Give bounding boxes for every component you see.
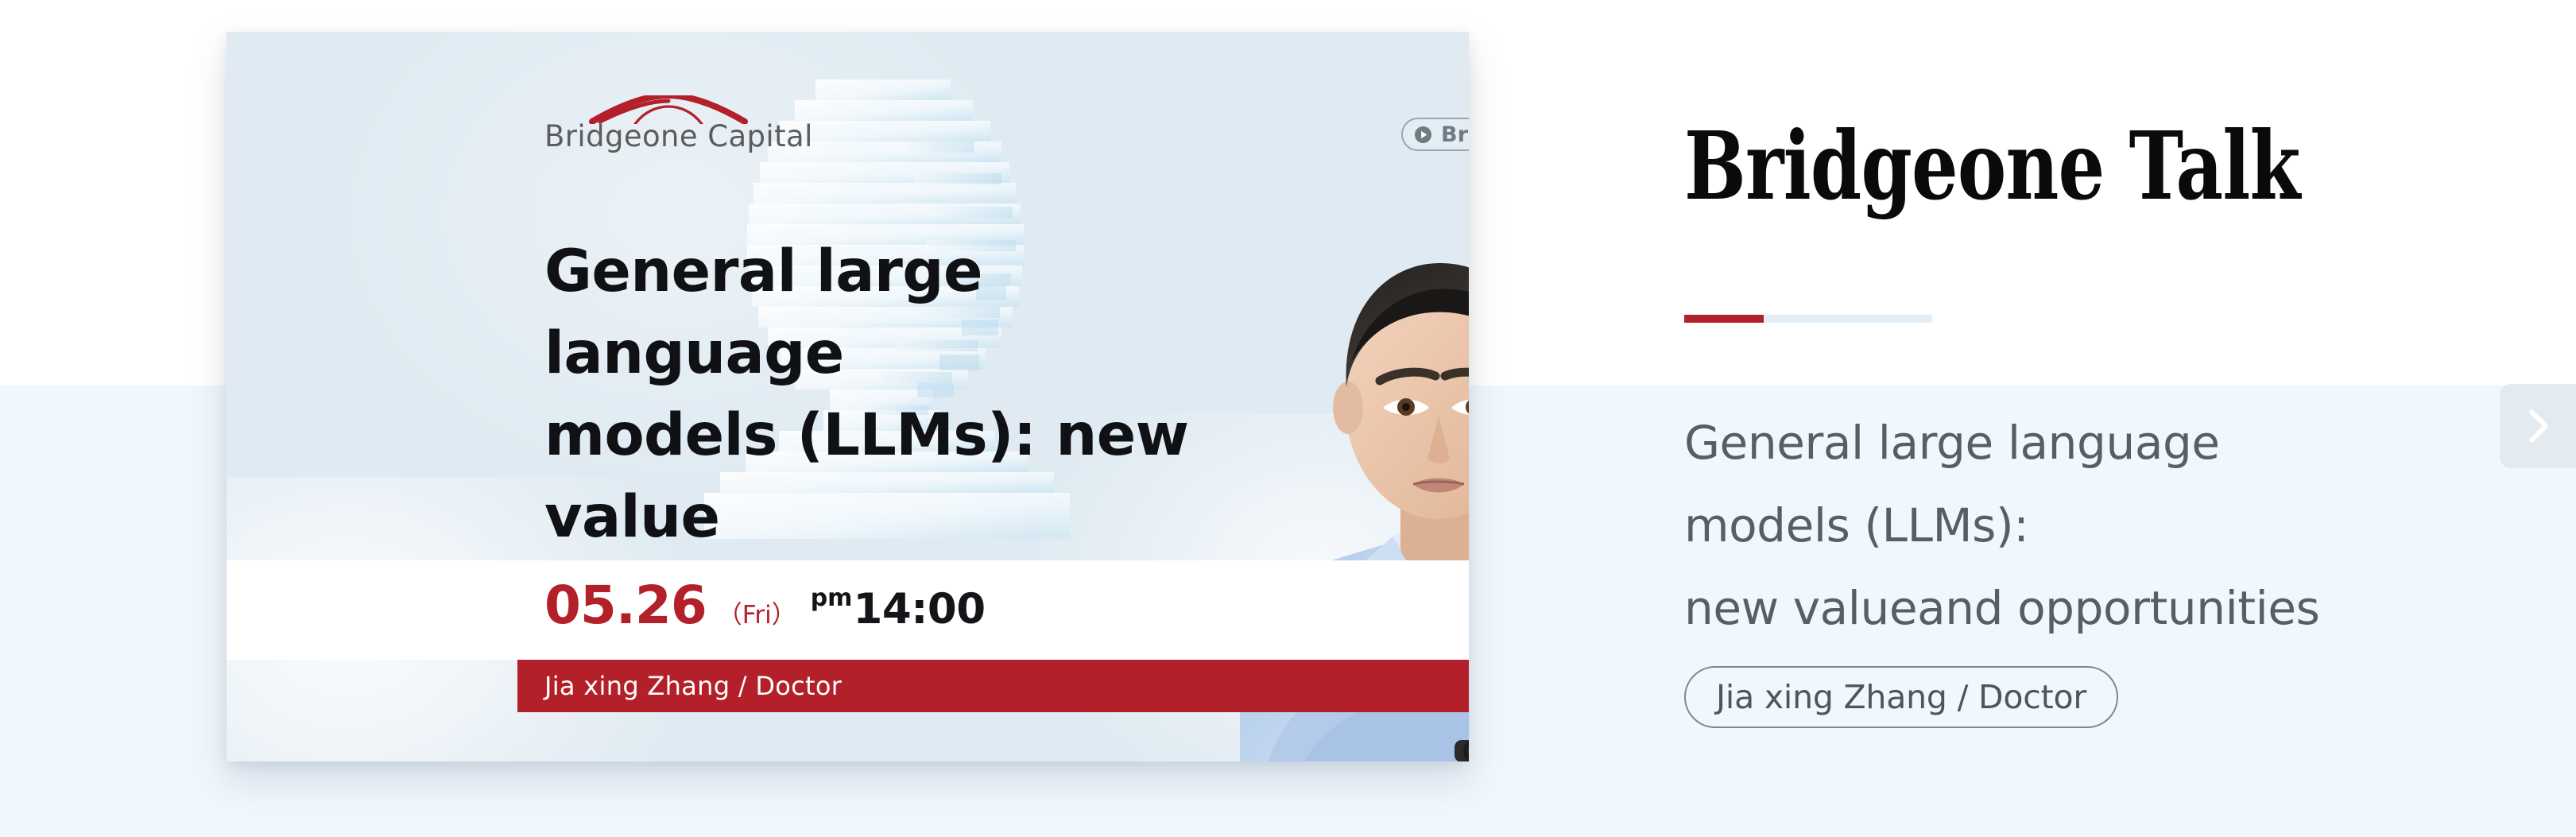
progress-divider-track (1764, 315, 1932, 323)
session-subtitle-line-3: new valueand opportunities (1684, 567, 2400, 649)
badge-label: BridgeOne Talk (1441, 122, 1469, 147)
progress-divider[interactable] (1684, 315, 1932, 323)
play-circle-icon (1414, 126, 1432, 144)
chevron-right-icon (2524, 408, 2551, 444)
slide-info-panel: Bridgeone Talk General large language mo… (1684, 119, 2479, 213)
datetime-band: 05.26 （Fri） pm 14:00 (227, 560, 1469, 660)
event-date: 05.26 (544, 575, 707, 636)
progress-divider-fill (1684, 315, 1764, 323)
carousel-slide: Bridgeone Capital BridgeOne Talk General… (0, 0, 2576, 837)
session-subtitle: General large language models (LLMs): ne… (1684, 401, 2400, 649)
event-time: 14:00 (853, 585, 985, 634)
page-title: Bridgeone Talk (1684, 119, 2304, 213)
session-subtitle-line-2: models (LLMs): (1684, 484, 2400, 567)
session-subtitle-line-1: General large language (1684, 401, 2400, 484)
speaker-pill-label: Jia xing Zhang / Doctor (1716, 678, 2086, 716)
event-weekday: （Fri） (718, 595, 796, 630)
next-slide-button[interactable] (2500, 384, 2576, 468)
speaker-pill[interactable]: Jia xing Zhang / Doctor (1684, 666, 2118, 728)
datetime-row: 05.26 （Fri） pm 14:00 (544, 575, 986, 636)
brand-logo-text: Bridgeone Capital (544, 119, 791, 153)
poster-title-line-1: General large language (544, 231, 1260, 394)
speaker-bar: Jia xing Zhang / Doctor (517, 660, 1469, 712)
bridgeone-talk-badge[interactable]: BridgeOne Talk (1401, 118, 1469, 151)
event-ampm: pm (811, 584, 853, 612)
event-poster-card[interactable]: Bridgeone Capital BridgeOne Talk General… (227, 32, 1469, 761)
poster-title-line-2: models (LLMs): new value (544, 394, 1260, 558)
brand-logo[interactable]: Bridgeone Capital (544, 95, 791, 148)
speaker-bar-label: Jia xing Zhang / Doctor (544, 671, 842, 701)
